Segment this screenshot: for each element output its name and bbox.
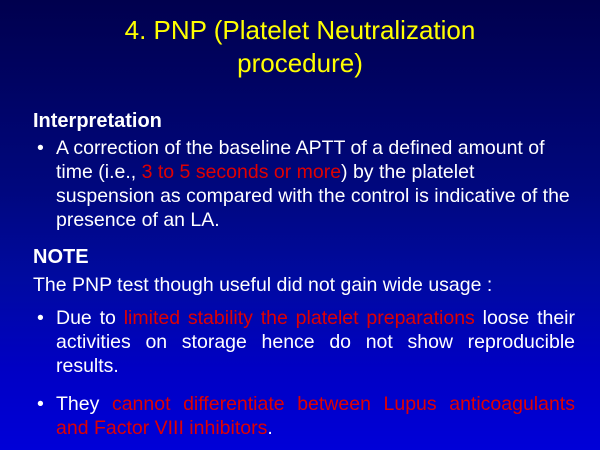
heading-note: NOTE — [33, 244, 600, 270]
list-item-text: Due to limited stability the platelet pr… — [56, 306, 575, 378]
list-item: • A correction of the baseline APTT of a… — [0, 136, 600, 232]
page-title-line-2: procedure) — [14, 47, 586, 80]
bullet-icon: • — [37, 392, 44, 416]
text-segment-plain: Due to — [56, 307, 124, 329]
slide-title: 4. PNP (Platelet Neutralization procedur… — [14, 14, 586, 80]
slide-canvas: 4. PNP (Platelet Neutralization procedur… — [0, 0, 600, 450]
note-paragraph: The PNP test though useful did not gain … — [33, 272, 600, 298]
text-segment-highlight: limited stability the platelet preparati… — [124, 307, 475, 329]
list-item-text: They cannot differentiate between Lupus … — [56, 392, 575, 440]
bullet-icon: • — [37, 306, 44, 330]
bullet-icon: • — [37, 136, 44, 160]
text-segment-plain: They — [56, 393, 112, 415]
slide-body: Interpretation • A correction of the bas… — [0, 108, 600, 440]
spacer-3 — [0, 378, 600, 392]
list-item: • They cannot differentiate between Lupu… — [0, 392, 600, 440]
page-title-line-1: 4. PNP (Platelet Neutralization — [14, 14, 586, 47]
text-segment-highlight: cannot differentiate between Lupus antic… — [56, 393, 575, 439]
list-item: • Due to limited stability the platelet … — [0, 306, 600, 378]
list-item-text: A correction of the baseline APTT of a d… — [56, 136, 575, 232]
text-segment-highlight: 3 to 5 seconds or more — [142, 161, 341, 183]
spacer — [0, 232, 600, 244]
spacer-2 — [0, 298, 600, 306]
text-segment-plain-2: . — [267, 417, 272, 439]
heading-interpretation: Interpretation — [33, 108, 600, 134]
